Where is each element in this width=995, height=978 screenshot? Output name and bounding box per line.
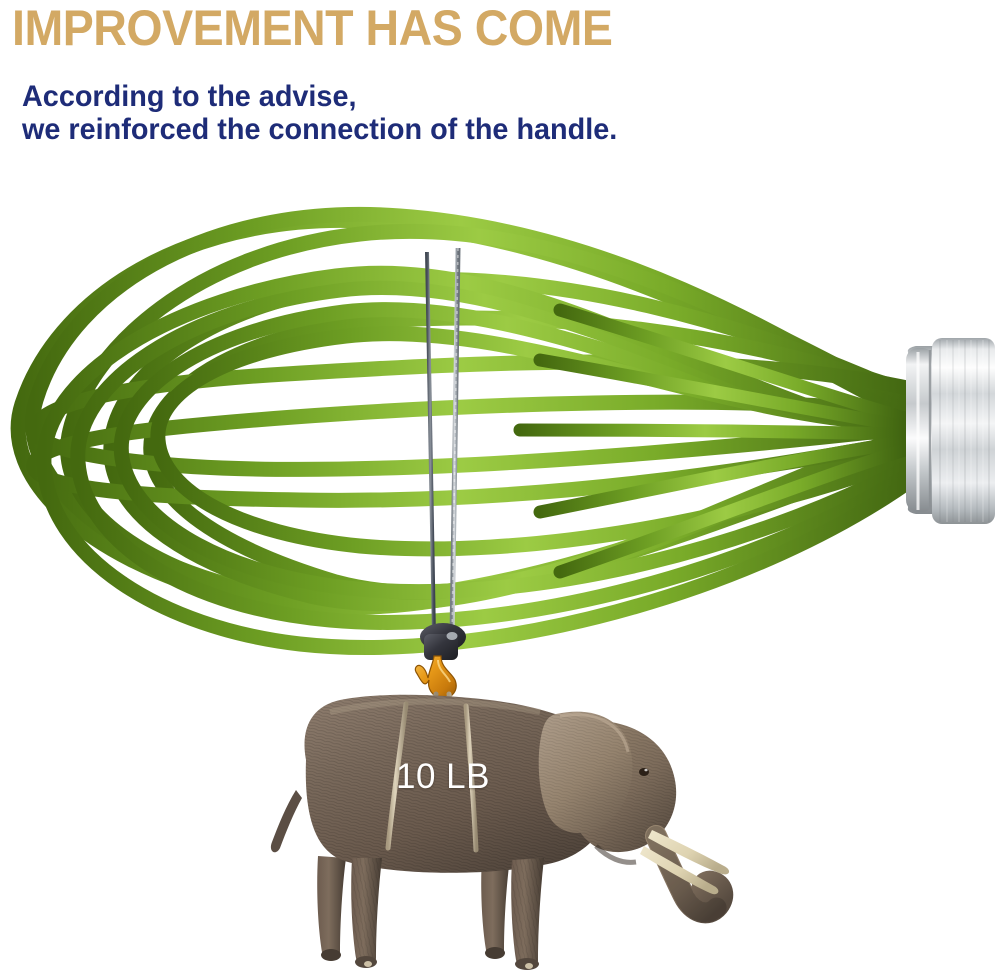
subtitle-line-2: we reinforced the connection of the hand… [22,113,915,146]
elephant-forefoot-far [485,947,505,959]
pulley-pin [447,632,458,640]
pulley-and-hook [415,623,466,698]
elephant-hindleg-near-texture [351,858,382,967]
elephant-eye-glint [644,769,647,772]
elephant-tail [271,790,302,852]
subtitle-line-1: According to the advise, [22,80,915,113]
elephant-hindleg-far [317,856,346,960]
handle-barrel [932,338,995,524]
subtitle: According to the advise, we reinforced t… [22,80,915,146]
page-title: IMPROVEMENT HAS COME [12,2,719,54]
product-marketing-graphic: IMPROVEMENT HAS COME According to the ad… [0,0,995,978]
bundle-strand-3 [520,430,905,434]
elephant-toenail-1 [364,961,372,967]
handle-icon [906,338,995,524]
elephant-foreleg-near-texture [511,858,544,969]
elephant-toenail-2 [525,963,533,969]
headline-block: IMPROVEMENT HAS COME According to the ad… [0,0,995,175]
elephant-hindfoot-far [321,949,341,961]
elephant-eye [639,768,649,776]
elephant-icon [271,695,729,970]
